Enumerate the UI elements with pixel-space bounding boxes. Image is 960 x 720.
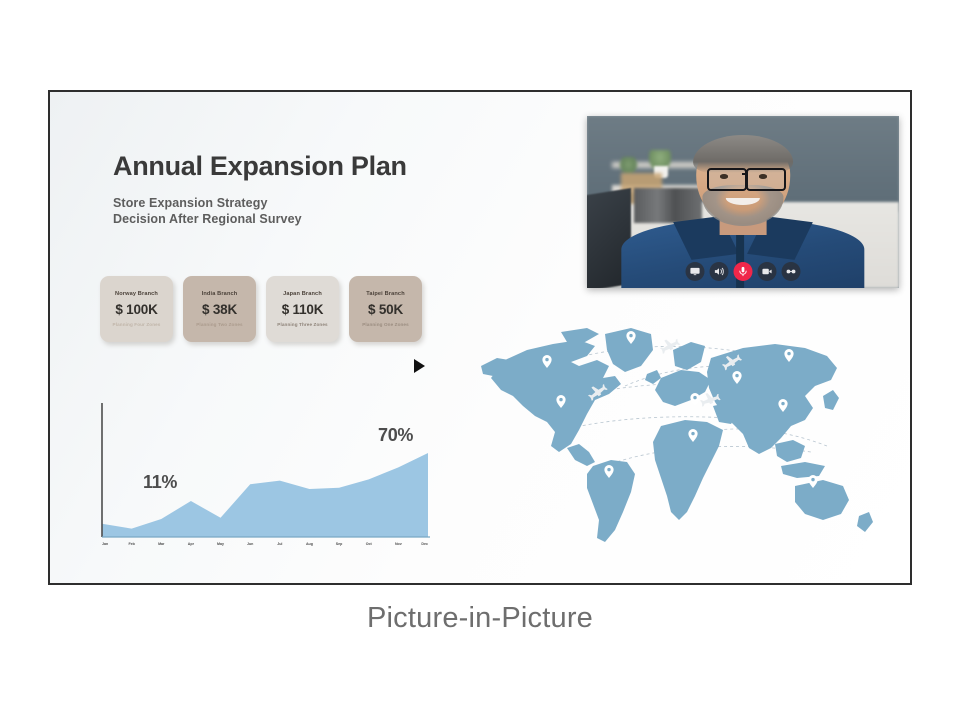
metric-card-amount: $ 100K	[115, 302, 157, 317]
microphone-icon[interactable]	[734, 262, 753, 281]
world-map-graphic	[475, 320, 905, 560]
metric-card[interactable]: India Branch$ 38KPlanning Two Zones	[183, 276, 256, 342]
landmass-canada-islands	[561, 328, 599, 342]
landmass-north-america	[491, 340, 621, 452]
metric-card-branch: Japan Branch	[283, 291, 322, 297]
chart-x-tick-label: Oct	[366, 542, 373, 546]
camera-icon[interactable]	[758, 262, 777, 281]
chart-x-tick-label: Mar	[158, 542, 165, 546]
location-pin-dot	[691, 432, 694, 435]
location-pin-dot	[559, 398, 562, 401]
video-call-control-bar	[686, 262, 801, 281]
metric-card-note: Planning Four Zones	[113, 322, 161, 327]
metric-cards-row: Norway Branch$ 100KPlanning Four ZonesIn…	[100, 276, 422, 342]
chart-x-tick-labels: JanFebMarAprMayJunJulAugSepOctNovDec	[102, 542, 428, 546]
chart-x-tick-label: Sep	[336, 542, 343, 546]
landmass-europe	[655, 370, 711, 406]
chart-x-tick-label: Jan	[102, 542, 108, 546]
metric-card-note: Planning Three Zones	[277, 322, 327, 327]
presentation-slide-frame: Annual Expansion Plan Store Expansion St…	[48, 90, 912, 585]
metric-card-amount: $ 50K	[368, 302, 403, 317]
eyeglasses-left-lens	[707, 168, 747, 191]
speaker-icon[interactable]	[710, 262, 729, 281]
metric-card[interactable]: Japan Branch$ 110KPlanning Three Zones	[266, 276, 339, 342]
title-block: Annual Expansion Plan Store Expansion St…	[113, 152, 493, 227]
landmass-scandinavia	[673, 342, 705, 370]
monitor-icon[interactable]	[686, 262, 705, 281]
glasses-icon[interactable]	[782, 262, 801, 281]
person-eye-left	[720, 174, 728, 178]
metric-card-note: Planning One Zones	[362, 322, 409, 327]
metric-card-branch: India Branch	[202, 291, 238, 297]
landmass-asia	[707, 344, 837, 454]
metric-card-branch: Norway Branch	[115, 291, 158, 297]
landmass-new-zealand	[857, 512, 873, 532]
landmass-africa	[653, 420, 723, 520]
landmass-indonesia	[781, 462, 825, 478]
person-eye-right	[759, 174, 767, 178]
chart-x-tick-label: Nov	[395, 542, 402, 546]
metric-card[interactable]: Taipei Branch$ 50KPlanning One Zones	[349, 276, 422, 342]
subtitle-line-1: Store Expansion Strategy	[113, 195, 493, 211]
location-pin-dot	[629, 334, 632, 337]
metric-card-amount: $ 110K	[282, 302, 324, 317]
landmass-japan	[823, 390, 839, 410]
chart-x-tick-label: Jul	[277, 542, 282, 546]
chart-x-tick-label: Jun	[247, 542, 253, 546]
metric-card-amount: $ 38K	[202, 302, 237, 317]
chart-x-tick-label: Aug	[306, 542, 313, 546]
metric-card-note: Planning Two Zones	[196, 322, 242, 327]
location-pin-dot	[811, 478, 814, 481]
chart-x-tick-label: Dec	[421, 542, 428, 546]
subtitle-line-2: Decision After Regional Survey	[113, 211, 493, 227]
chart-x-tick-label: May	[217, 542, 224, 546]
area-chart: JanFebMarAprMayJunJulAugSepOctNovDec 11%…	[90, 395, 435, 562]
location-pin-dot	[693, 396, 696, 399]
chart-x-tick-label: Feb	[128, 542, 135, 546]
location-pin-dot	[787, 352, 790, 355]
metric-card[interactable]: Norway Branch$ 100KPlanning Four Zones	[100, 276, 173, 342]
landmass-uk	[645, 370, 661, 384]
caption-label: Picture-in-Picture	[0, 602, 960, 635]
landmass-australia	[795, 480, 849, 520]
location-pin-dot	[607, 468, 610, 471]
location-pin-icon	[690, 393, 699, 406]
subtitle-block: Store Expansion Strategy Decision After …	[113, 195, 493, 227]
chart-end-label: 70%	[378, 425, 413, 446]
chart-x-tick-label: Apr	[188, 542, 195, 546]
chart-start-label: 11%	[143, 472, 177, 493]
page-title: Annual Expansion Plan	[113, 152, 493, 182]
eyeglasses-right-lens	[746, 168, 786, 191]
landmass-central-america	[567, 444, 595, 466]
location-pin-dot	[545, 358, 548, 361]
metric-card-branch: Taipei Branch	[366, 291, 405, 297]
location-pin-dot	[781, 402, 784, 405]
chart-plot-area	[102, 453, 428, 537]
chart-area-series	[102, 453, 428, 537]
picture-in-picture-window[interactable]	[587, 116, 899, 288]
world-map-svg	[475, 320, 905, 560]
landmass-southeast-asia	[775, 440, 805, 462]
map-landmasses	[481, 328, 873, 542]
location-pin-dot	[735, 374, 738, 377]
background-files	[634, 188, 703, 222]
eyeglasses-bridge	[742, 173, 748, 175]
slide-canvas: Annual Expansion Plan Store Expansion St…	[50, 92, 910, 583]
play-triangle-icon[interactable]	[414, 359, 425, 373]
area-chart-svg: JanFebMarAprMayJunJulAugSepOctNovDec	[90, 395, 435, 562]
